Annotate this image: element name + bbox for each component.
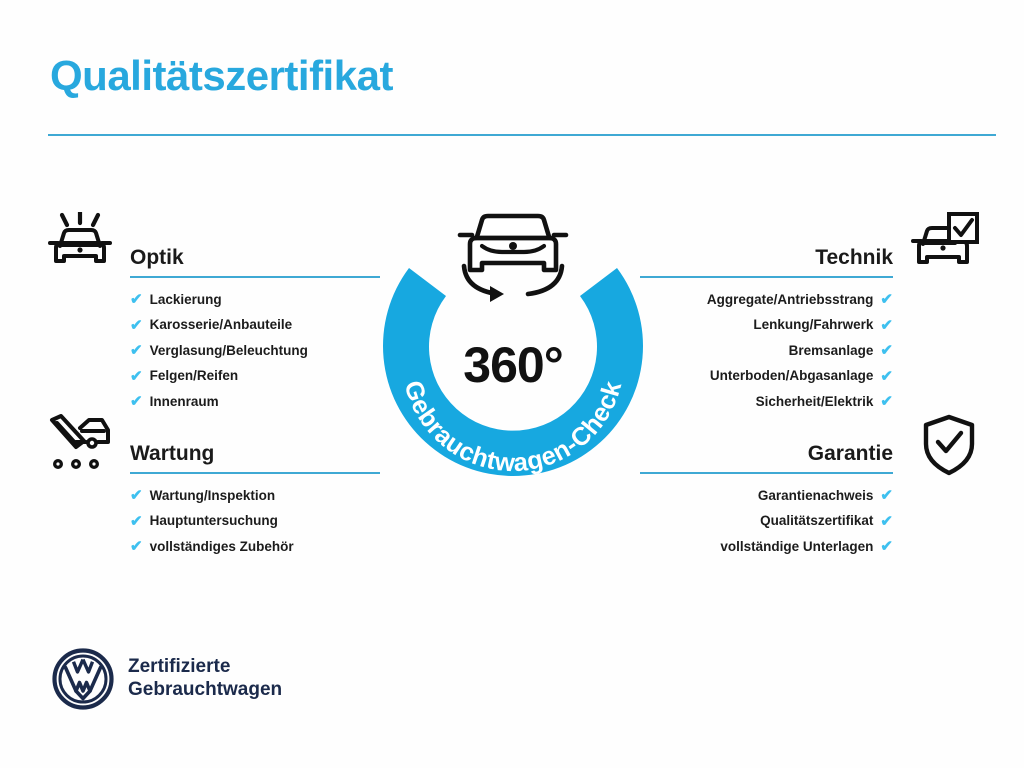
certificate-page: Qualitätszertifikat <box>0 0 1024 768</box>
check-icon: ✔ <box>130 292 143 307</box>
list-item-label: Garantienachweis <box>758 489 874 503</box>
list-item: Aggregate/Antriebsstrang ✔ <box>640 292 893 307</box>
section-divider <box>130 472 380 474</box>
list-item-label: Karosserie/Anbauteile <box>150 318 293 332</box>
check-icon: ✔ <box>130 394 143 409</box>
badge-360-gebrauchtwagen-check: Gebrauchtwagen-Check <box>372 192 654 500</box>
list-item-label: Aggregate/Antriebsstrang <box>707 293 874 307</box>
list-item: ✔ Lackierung <box>130 292 380 307</box>
list-item-label: Hauptuntersuchung <box>150 514 278 528</box>
check-icon: ✔ <box>880 292 893 307</box>
list-item-label: Lenkung/Fahrwerk <box>753 318 873 332</box>
section-header: Garantie <box>640 434 893 468</box>
list-item-label: vollständiges Zubehör <box>150 540 294 554</box>
section-wartung: Wartung ✔ Wartung/Inspektion ✔ Hauptunte… <box>130 434 380 565</box>
checklist: Aggregate/Antriebsstrang ✔ Lenkung/Fahrw… <box>640 292 893 409</box>
list-item-label: Unterboden/Abgasanlage <box>710 369 874 383</box>
section-optik: Optik ✔ Lackierung ✔ Karosserie/Anbautei… <box>130 238 380 420</box>
badge-value: 360° <box>372 336 654 394</box>
list-item: Qualitätszertifikat ✔ <box>640 514 893 529</box>
list-item-label: Sicherheit/Elektrik <box>756 395 874 409</box>
list-item: ✔ Wartung/Inspektion <box>130 488 380 503</box>
checklist: ✔ Lackierung ✔ Karosserie/Anbauteile ✔ V… <box>130 292 380 409</box>
check-icon: ✔ <box>880 318 893 333</box>
vw-brand-text: Zertifizierte Gebrauchtwagen <box>128 656 282 702</box>
list-item-label: Felgen/Reifen <box>150 369 239 383</box>
list-item: ✔ Karosserie/Anbauteile <box>130 318 380 333</box>
check-icon: ✔ <box>880 514 893 529</box>
list-item: ✔ Felgen/Reifen <box>130 369 380 384</box>
car-checkbox-icon <box>911 212 981 279</box>
vw-brand-lockup: Zertifizierte Gebrauchtwagen <box>52 648 282 710</box>
section-header: Optik <box>130 238 380 272</box>
check-icon: ✔ <box>880 394 893 409</box>
checklist: ✔ Wartung/Inspektion ✔ Hauptuntersuchung… <box>130 488 380 554</box>
check-icon: ✔ <box>130 514 143 529</box>
list-item: Lenkung/Fahrwerk ✔ <box>640 318 893 333</box>
list-item-label: Lackierung <box>150 293 222 307</box>
section-title: Technik <box>815 246 893 270</box>
checklist: Garantienachweis ✔ Qualitätszertifikat ✔… <box>640 488 893 554</box>
section-garantie: Garantie Garantienachweis ✔ Qualitätszer… <box>640 434 893 565</box>
list-item-label: Innenraum <box>150 395 219 409</box>
check-icon: ✔ <box>880 343 893 358</box>
section-divider <box>130 276 380 278</box>
page-title: Qualitätszertifikat <box>50 52 393 100</box>
title-divider <box>48 134 996 136</box>
section-divider <box>640 472 893 474</box>
list-item-label: Bremsanlage <box>789 344 874 358</box>
pencil-car-service-icon <box>46 414 116 477</box>
list-item-label: Verglasung/Beleuchtung <box>150 344 308 358</box>
check-icon: ✔ <box>880 369 893 384</box>
section-title: Wartung <box>130 442 214 466</box>
car-front-headlights-icon <box>46 212 114 279</box>
list-item: Unterboden/Abgasanlage ✔ <box>640 369 893 384</box>
list-item: Garantienachweis ✔ <box>640 488 893 503</box>
list-item-label: vollständige Unterlagen <box>720 540 873 554</box>
section-header: Wartung <box>130 434 380 468</box>
section-divider <box>640 276 893 278</box>
section-technik: Technik Aggregate/Antriebsstrang ✔ Lenku… <box>640 238 893 420</box>
list-item-label: Qualitätszertifikat <box>760 514 873 528</box>
section-title: Garantie <box>808 442 893 466</box>
rotation-arrow-head <box>490 286 504 302</box>
list-item: Bremsanlage ✔ <box>640 343 893 358</box>
list-item: vollständige Unterlagen ✔ <box>640 539 893 554</box>
check-icon: ✔ <box>880 488 893 503</box>
list-item: ✔ Hauptuntersuchung <box>130 514 380 529</box>
check-icon: ✔ <box>880 539 893 554</box>
list-item: ✔ vollständiges Zubehör <box>130 539 380 554</box>
list-item: Sicherheit/Elektrik ✔ <box>640 394 893 409</box>
section-title: Optik <box>130 246 184 270</box>
vw-logo <box>52 648 114 710</box>
check-icon: ✔ <box>130 539 143 554</box>
list-item: ✔ Innenraum <box>130 394 380 409</box>
vw-brand-line-2: Gebrauchtwagen <box>128 679 282 702</box>
section-header: Technik <box>640 238 893 272</box>
check-icon: ✔ <box>130 369 143 384</box>
shield-check-icon <box>921 414 977 481</box>
check-icon: ✔ <box>130 318 143 333</box>
list-item: ✔ Verglasung/Beleuchtung <box>130 343 380 358</box>
check-icon: ✔ <box>130 343 143 358</box>
list-item-label: Wartung/Inspektion <box>150 489 276 503</box>
vw-brand-line-1: Zertifizierte <box>128 656 282 679</box>
check-icon: ✔ <box>130 488 143 503</box>
